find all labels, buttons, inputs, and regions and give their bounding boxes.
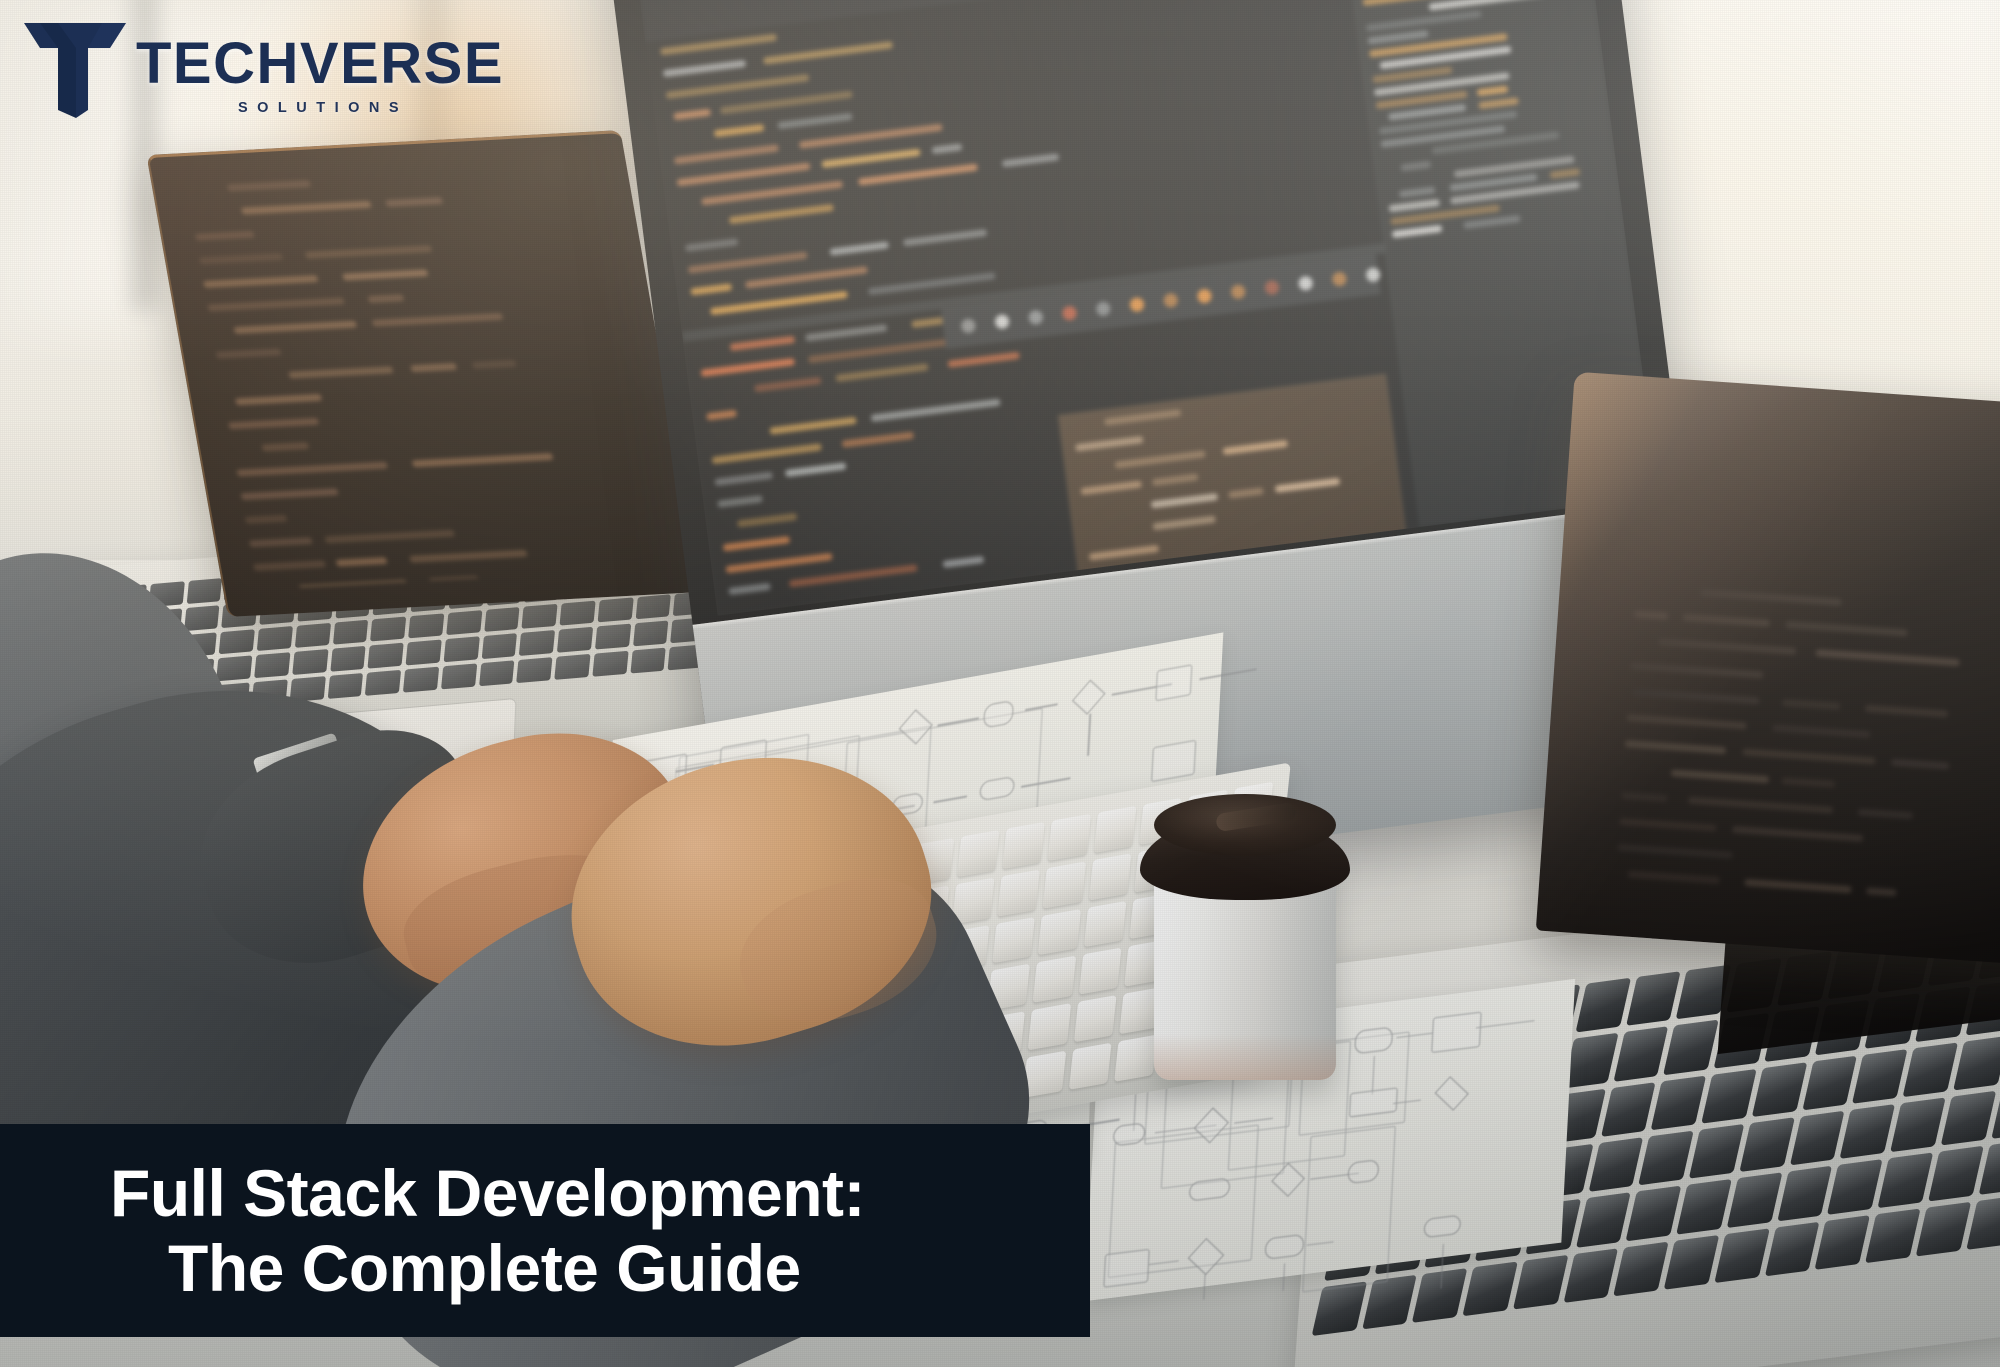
title-banner: Full Stack Development: The Complete Gui… [0, 1124, 1090, 1337]
hero-banner-image: TECHVERSE SOLUTIONS Full Stack Developme… [0, 0, 2000, 1367]
coffee-cup [1140, 772, 1350, 1082]
techverse-t-monogram-icon [18, 18, 132, 118]
left-laptop-code-text [177, 157, 671, 590]
right-laptop-code-text [1608, 576, 2000, 937]
brand-logo[interactable]: TECHVERSE SOLUTIONS [18, 12, 504, 118]
brand-wordmark: TECHVERSE SOLUTIONS [136, 36, 504, 116]
title-line-1: Full Stack Development: [0, 1156, 1090, 1231]
left-laptop-screen [146, 130, 701, 617]
brand-tagline: SOLUTIONS [136, 100, 504, 116]
brand-name: TECHVERSE [136, 36, 504, 91]
right-laptop [1507, 372, 2000, 1367]
right-laptop-screen [1536, 372, 2000, 970]
title-line-2: The Complete Guide [0, 1231, 1090, 1306]
